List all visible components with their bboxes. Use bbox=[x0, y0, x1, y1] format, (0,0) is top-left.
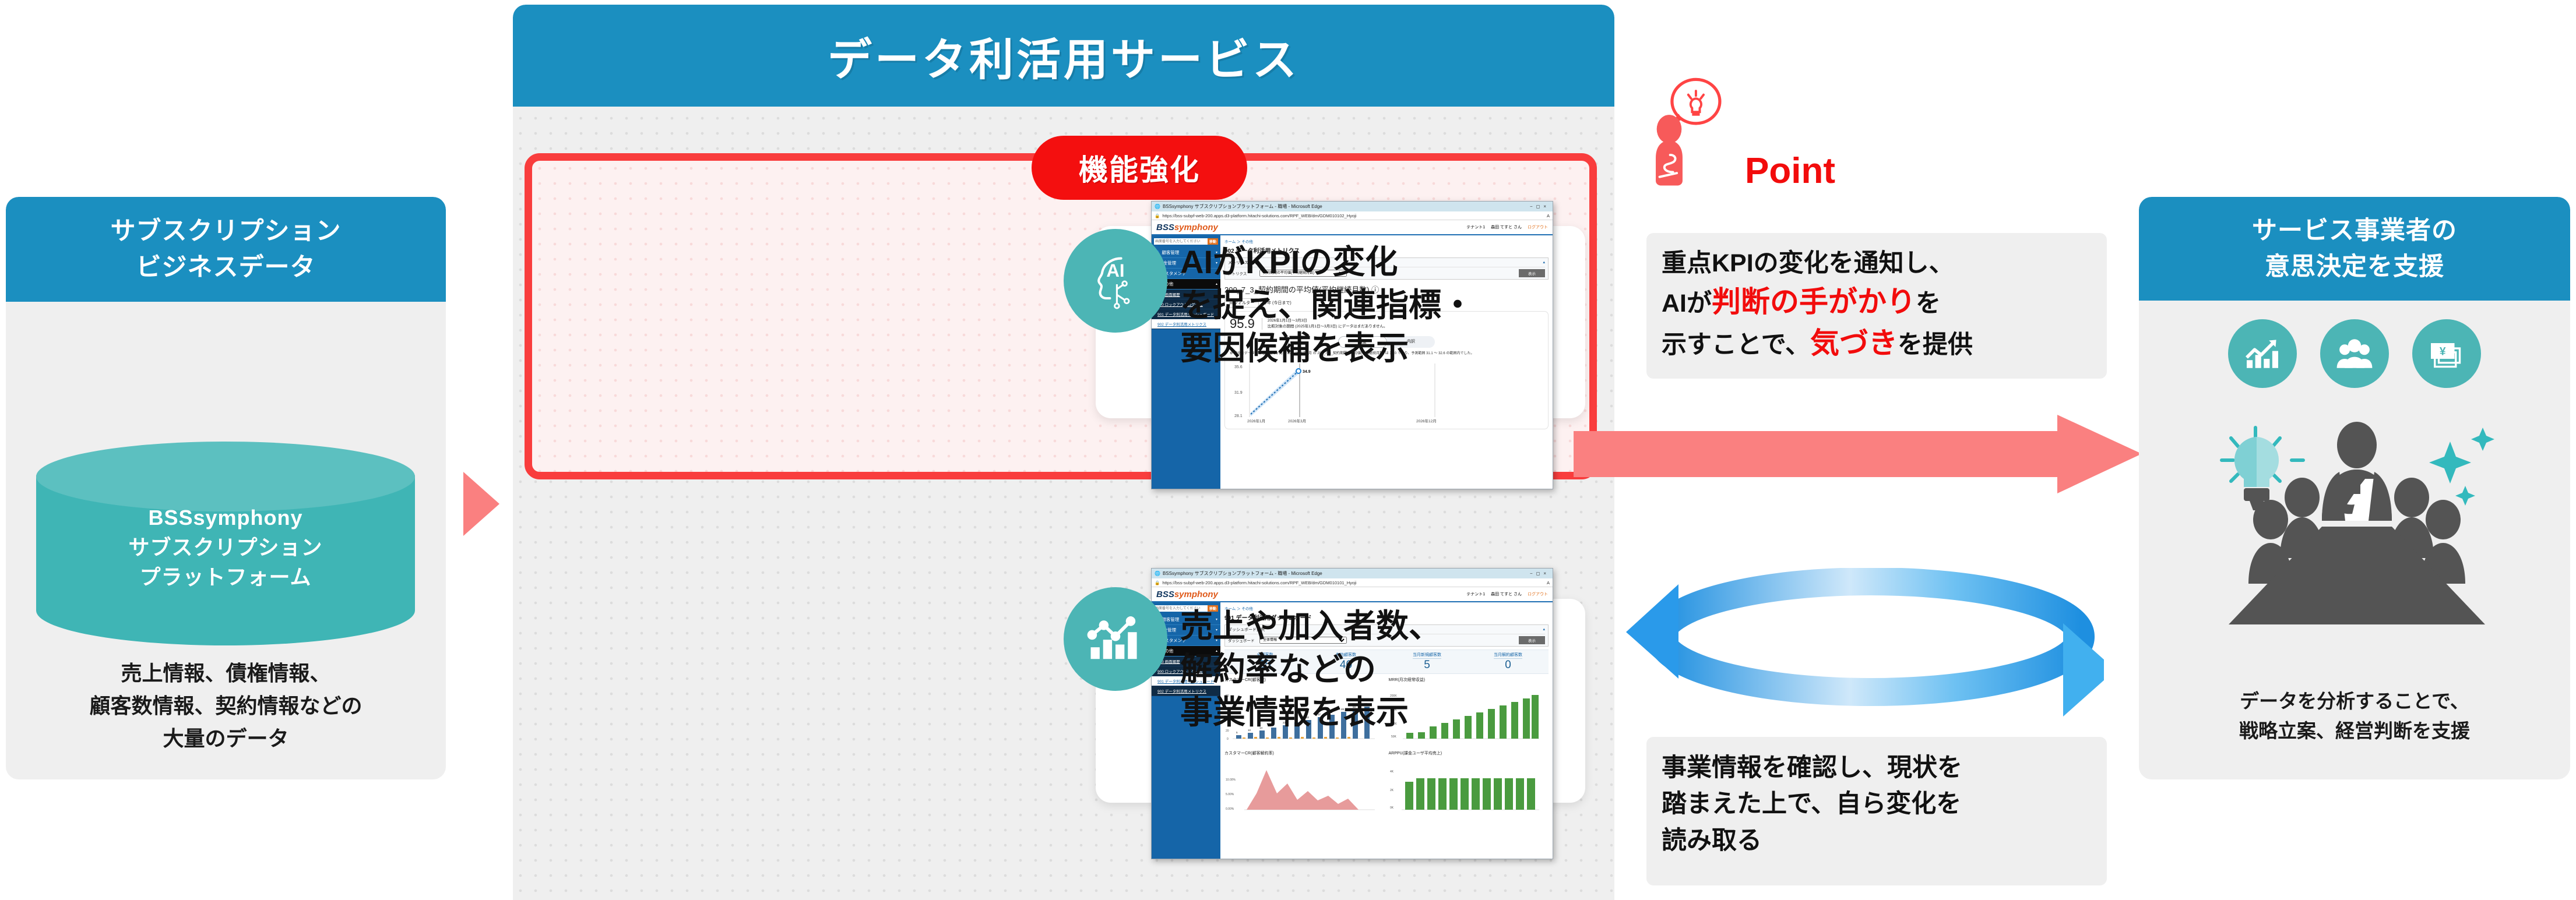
svg-text:¥: ¥ bbox=[2440, 345, 2446, 358]
x-tick-2: 2026年3月 bbox=[1288, 418, 1306, 423]
db-line2: サブスクリプション bbox=[36, 532, 415, 562]
bottom-description-box: 事業情報を確認し、現状を 踏まえた上で、自ら変化を 読み取る bbox=[1646, 737, 2107, 885]
left-panel-header: サブスクリプション ビジネスデータ bbox=[6, 197, 446, 302]
svg-text:2K: 2K bbox=[1390, 789, 1394, 792]
people-group-icon bbox=[2320, 319, 2389, 388]
right-icon-row: ¥ bbox=[2139, 319, 2570, 388]
left-panel: サブスクリプション ビジネスデータ BSSsymphony サブスクリプション … bbox=[6, 197, 446, 779]
logout-button[interactable]: ログアウト bbox=[1528, 224, 1548, 230]
left-panel-caption: 売上情報、債権情報、 顧客数情報、契約情報などの 大量のデータ bbox=[6, 657, 446, 754]
database-top bbox=[36, 442, 415, 511]
charts-row-bottom: カスタマーCR(顧客解約率) 10.00%5.00% 0.00% ARPPU(課… bbox=[1224, 750, 1549, 817]
left-caption-line2: 顧客数情報、契約情報などの bbox=[6, 690, 446, 722]
bottom-line3: 読み取る bbox=[1662, 823, 2092, 859]
browser-titlebar: 🌐 BSSsymphony サブスクリプションプラットフォーム - 職場 - M… bbox=[1152, 202, 1553, 211]
ai-brain-glyph: AI bbox=[1081, 246, 1150, 316]
ai-text-line1: AIがKPIの変化 bbox=[1180, 241, 1600, 284]
point-line3: 示すことで、気づきを提供 bbox=[1662, 323, 2092, 364]
ai-text-line2: を捉え、関連指標・ bbox=[1180, 284, 1600, 327]
y-tick-mid: 31.9 bbox=[1234, 391, 1243, 395]
database-cylinder-icon: BSSsymphony サブスクリプション プラットフォーム bbox=[36, 442, 415, 634]
right-panel-caption: データを分析することで、 戦略立案、経営判断を支援 bbox=[2139, 686, 2570, 746]
right-caption-line1: データを分析することで、 bbox=[2139, 686, 2570, 716]
svg-text:0: 0 bbox=[1227, 737, 1229, 741]
money-bills-glyph: ¥ bbox=[2426, 333, 2468, 375]
point-header: Point bbox=[1649, 70, 1835, 189]
edge-icon: 🌐 bbox=[1155, 204, 1160, 209]
feature-card-ai-text: AIがKPIの変化 を捉え、関連指標・ 要因候補を表示 bbox=[1180, 241, 1600, 370]
brandbar-right: テナント1 森田 てすと さん ログアウト bbox=[1466, 591, 1548, 597]
browser-urlbar[interactable]: 🔒 https://bss-subpf-web-200.apps.d3-plat… bbox=[1152, 578, 1553, 587]
edge-icon: 🌐 bbox=[1155, 571, 1160, 576]
svg-text:AI: AI bbox=[1106, 260, 1124, 281]
url-text: https://bss-subpf-web-200.apps.d3-platfo… bbox=[1162, 580, 1544, 585]
growth-chart-glyph bbox=[2241, 333, 2283, 375]
right-caption-line2: 戦略立案、経営判断を支援 bbox=[2139, 716, 2570, 746]
feedback-cycle-arrow-icon bbox=[1609, 568, 2104, 737]
lock-icon: 🔒 bbox=[1155, 213, 1160, 218]
tenant-label: テナント1 bbox=[1466, 224, 1485, 230]
svg-text:10.00%: 10.00% bbox=[1226, 778, 1236, 782]
logout-button[interactable]: ログアウト bbox=[1528, 591, 1548, 597]
sidebar-label: 顧客管理 bbox=[1162, 249, 1179, 256]
chart-point-label: 34.9 bbox=[1303, 370, 1311, 374]
point-line2: AIが判断の手がかりを bbox=[1662, 281, 2092, 323]
people-group-glyph bbox=[2334, 333, 2376, 375]
flow-arrow-to-right-panel-icon bbox=[1574, 415, 2142, 493]
read-aloud-icon[interactable]: A bbox=[1547, 580, 1550, 585]
db-line1: BSSsymphony bbox=[36, 503, 415, 532]
biz-text-line2: 解約率などの bbox=[1180, 648, 1600, 691]
svg-text:4K: 4K bbox=[1390, 770, 1394, 774]
main-panel-title: データ利活用サービス bbox=[828, 24, 1300, 88]
app-logo: BSSsymphony bbox=[1156, 223, 1218, 232]
browser-titlebar: 🌐 BSSsymphony サブスクリプションプラットフォーム - 職場 - M… bbox=[1152, 569, 1553, 578]
brandbar-right: テナント1 森田 てすと さん ログアウト bbox=[1466, 224, 1548, 230]
app-brandbar: BSSsymphony テナント1 森田 てすと さん ログアウト bbox=[1152, 587, 1553, 602]
ai-text-line3: 要因候補を表示 bbox=[1180, 327, 1600, 370]
flow-arrow-left-to-main-icon bbox=[463, 472, 499, 536]
x-tick-1: 2026年1月 bbox=[1247, 418, 1265, 423]
database-label: BSSsymphony サブスクリプション プラットフォーム bbox=[36, 503, 415, 592]
tenant-label: テナント1 bbox=[1466, 591, 1485, 597]
svg-text:50K: 50K bbox=[1391, 735, 1397, 739]
point-highlight-1: 判断の手がかり bbox=[1712, 285, 1916, 318]
right-panel-header: サービス事業者の 意思決定を支援 bbox=[2139, 197, 2570, 301]
money-bills-icon: ¥ bbox=[2412, 319, 2481, 388]
arppu-bar-chart: 4K2K 0K bbox=[1389, 757, 1540, 816]
right-header-line2: 意思決定を支援 bbox=[2265, 249, 2444, 285]
window-controls[interactable]: −◻× bbox=[1530, 204, 1550, 209]
main-panel-header: データ利活用サービス bbox=[513, 5, 1614, 107]
url-text: https://bss-subpf-web-200.apps.d3-platfo… bbox=[1162, 213, 1544, 218]
x-tick-3: 2026年12月 bbox=[1416, 418, 1437, 423]
svg-text:0K: 0K bbox=[1390, 806, 1394, 810]
infographic-canvas: サブスクリプション ビジネスデータ BSSsymphony サブスクリプション … bbox=[0, 0, 2576, 900]
left-caption-line3: 大量のデータ bbox=[6, 722, 446, 755]
biz-text-line1: 売上や加入者数、 bbox=[1180, 605, 1600, 648]
user-label: 森田 てすと さん bbox=[1491, 224, 1522, 230]
left-header-line2: ビジネスデータ bbox=[136, 249, 316, 285]
window-title: BSSsymphony サブスクリプションプラットフォーム - 職場 - Mic… bbox=[1163, 203, 1528, 210]
left-header-line1: サブスクリプション bbox=[111, 213, 342, 249]
chart-title: カスタマーCR(顧客解約率) bbox=[1224, 750, 1385, 756]
app-logo: BSSsymphony bbox=[1156, 590, 1218, 599]
lock-icon: 🔒 bbox=[1155, 580, 1160, 585]
point-label: Point bbox=[1745, 153, 1835, 189]
bar-chart-trend-icon bbox=[1064, 587, 1167, 691]
svg-text:0.00%: 0.00% bbox=[1226, 807, 1234, 811]
user-label: 森田 てすと さん bbox=[1491, 591, 1522, 597]
biz-text-line3: 事業情報を表示 bbox=[1180, 691, 1600, 734]
bar-chart-trend-glyph bbox=[1081, 605, 1150, 673]
window-title: BSSsymphony サブスクリプションプラットフォーム - 職場 - Mic… bbox=[1163, 570, 1528, 577]
right-header-line1: サービス事業者の bbox=[2252, 213, 2457, 249]
feature-card-business-text: 売上や加入者数、 解約率などの 事業情報を表示 bbox=[1180, 605, 1600, 734]
point-line1: 重点KPIの変化を通知し、 bbox=[1662, 246, 2092, 281]
chart-title: ARPPU(課金ユーザ平均売上) bbox=[1389, 750, 1549, 756]
read-aloud-icon[interactable]: A bbox=[1547, 213, 1550, 218]
y-tick-bot: 28.1 bbox=[1234, 414, 1243, 418]
bottom-line1: 事業情報を確認し、現状を bbox=[1662, 750, 2092, 786]
feature-enhanced-badge: 機能強化 bbox=[1032, 136, 1247, 200]
point-description-box: 重点KPIの変化を通知し、 AIが判断の手がかりを 示すことで、気づきを提供 bbox=[1646, 233, 2107, 379]
ai-brain-icon: AI bbox=[1064, 229, 1167, 333]
window-controls[interactable]: −◻× bbox=[1530, 571, 1550, 576]
chart-churn-rate: カスタマーCR(顧客解約率) 10.00%5.00% 0.00% bbox=[1224, 750, 1385, 817]
point-highlight-2: 気づき bbox=[1810, 327, 1898, 359]
presentation-meeting-icon bbox=[2191, 407, 2518, 651]
right-panel: サービス事業者の 意思決定を支援 bbox=[2139, 197, 2570, 779]
browser-urlbar[interactable]: 🔒 https://bss-subpf-web-200.apps.d3-plat… bbox=[1152, 211, 1553, 220]
bottom-line2: 踏まえた上で、自ら変化を bbox=[1662, 786, 2092, 822]
chart-arppu: ARPPU(課金ユーザ平均売上) 4K2K 0K bbox=[1389, 750, 1549, 817]
growth-chart-icon bbox=[2228, 319, 2297, 388]
db-line3: プラットフォーム bbox=[36, 562, 415, 592]
svg-text:5.00%: 5.00% bbox=[1226, 793, 1234, 796]
churn-area-chart: 10.00%5.00% 0.00% bbox=[1224, 757, 1376, 816]
left-caption-line1: 売上情報、債権情報、 bbox=[6, 657, 446, 690]
app-brandbar: BSSsymphony テナント1 森田 てすと さん ログアウト bbox=[1152, 220, 1553, 235]
person-with-idea-icon bbox=[1649, 70, 1737, 189]
